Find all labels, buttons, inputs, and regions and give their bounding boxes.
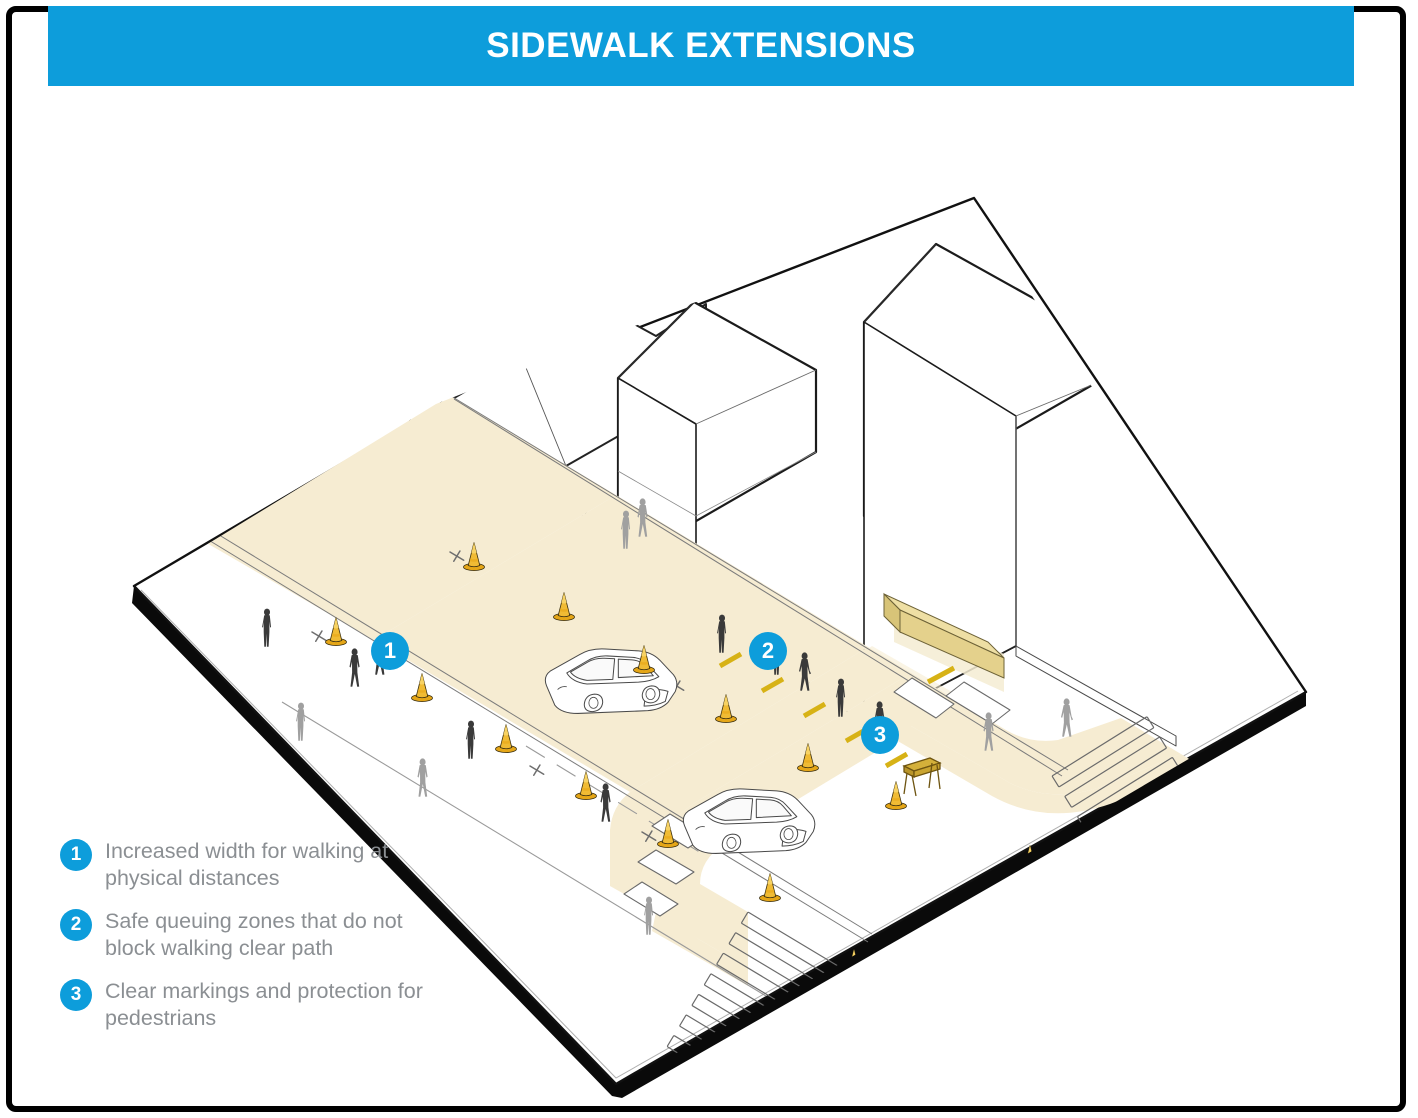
legend: 1 Increased width for walking at physica… [60, 838, 480, 1048]
map-marker-2[interactable]: 2 [749, 632, 787, 670]
infographic-page: SIDEWALK EXTENSIONS [0, 0, 1418, 1118]
legend-item-2: 2 Safe queuing zones that do not block w… [60, 908, 480, 962]
map-marker-2-label: 2 [762, 638, 774, 664]
map-marker-1[interactable]: 1 [371, 632, 409, 670]
map-marker-3-label: 3 [874, 722, 886, 748]
legend-badge-1: 1 [60, 839, 92, 871]
legend-badge-3: 3 [60, 979, 92, 1011]
map-marker-3[interactable]: 3 [861, 716, 899, 754]
map-marker-1-label: 1 [384, 638, 396, 664]
legend-text-1: Increased width for walking at physical … [105, 838, 435, 892]
legend-badge-3-label: 3 [71, 984, 82, 1006]
cone-icon [1160, 798, 1181, 826]
title-banner: SIDEWALK EXTENSIONS [48, 6, 1354, 86]
legend-badge-2-label: 2 [71, 914, 82, 936]
legend-item-1: 1 Increased width for walking at physica… [60, 838, 480, 892]
legend-text-2: Safe queuing zones that do not block wal… [105, 908, 435, 962]
legend-badge-1-label: 1 [71, 844, 82, 866]
page-title: SIDEWALK EXTENSIONS [486, 26, 916, 66]
legend-badge-2: 2 [60, 909, 92, 941]
legend-item-3: 3 Clear markings and protection for pede… [60, 978, 480, 1032]
legend-text-3: Clear markings and protection for pedest… [105, 978, 435, 1032]
